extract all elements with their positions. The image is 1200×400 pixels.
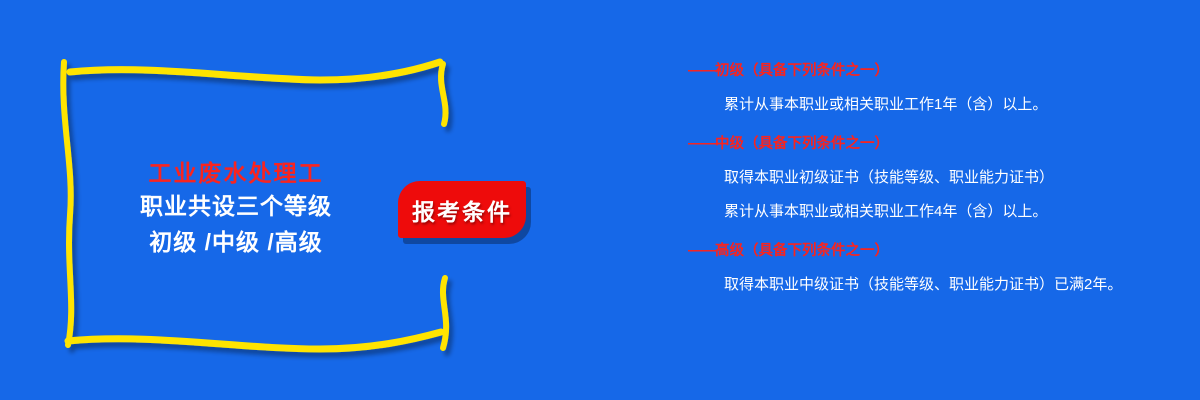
badge-label: 报考条件 (412, 193, 512, 227)
requirement-group-heading: ——中级（具备下列条件之一） (688, 133, 1188, 155)
requirement-group-beginner: ——初级（具备下列条件之一） 累计从事本职业或相关职业工作1年（含）以上。 (688, 60, 1188, 116)
requirement-item: 累计从事本职业或相关职业工作1年（含）以上。 (724, 94, 1188, 116)
requirement-item: 累计从事本职业或相关职业工作4年（含）以上。 (724, 201, 1188, 223)
requirement-group-advanced: ——高级（具备下列条件之一） 取得本职业中级证书（技能等级、职业能力证书）已满2… (688, 240, 1188, 296)
requirement-group-heading: ——高级（具备下列条件之一） (688, 240, 1188, 262)
requirement-group-heading: ——初级（具备下列条件之一） (688, 60, 1188, 82)
requirement-item: 取得本职业中级证书（技能等级、职业能力证书）已满2年。 (724, 274, 1188, 296)
exam-requirements-banner: 工业废水处理工 职业共设三个等级 初级 /中级 /高级 报考条件 ——初级（具备… (0, 0, 1200, 400)
heading-dashes: —— (688, 63, 715, 79)
requirements-list: ——初级（具备下列条件之一） 累计从事本职业或相关职业工作1年（含）以上。 ——… (688, 60, 1188, 296)
occupation-title: 工业废水处理工 (96, 158, 376, 188)
levels-list: 初级 /中级 /高级 (96, 224, 376, 260)
heading-text: 中级（具备下列条件之一） (715, 136, 889, 152)
requirement-group-intermediate: ——中级（具备下列条件之一） 取得本职业初级证书（技能等级、职业能力证书） 累计… (688, 133, 1188, 223)
requirement-item: 取得本职业初级证书（技能等级、职业能力证书） (724, 167, 1188, 189)
heading-text: 高级（具备下列条件之一） (715, 243, 889, 259)
levels-summary: 职业共设三个等级 (96, 188, 376, 224)
heading-text: 初级（具备下列条件之一） (715, 63, 889, 79)
exam-requirements-badge: 报考条件 (398, 181, 526, 238)
heading-dashes: —— (688, 243, 715, 259)
occupation-info-block: 工业废水处理工 职业共设三个等级 初级 /中级 /高级 (96, 158, 376, 260)
heading-dashes: —— (688, 136, 715, 152)
